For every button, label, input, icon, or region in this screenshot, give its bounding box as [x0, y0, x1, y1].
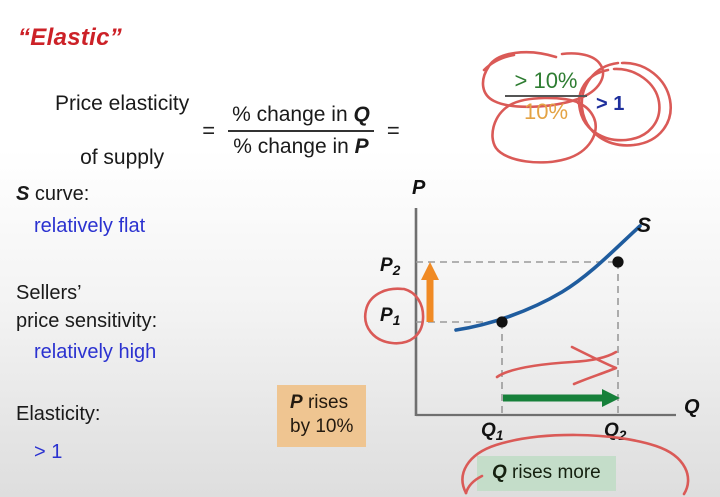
formula-lhs-line1: Price elasticity [55, 91, 189, 118]
callout-quantity-text: rises more [507, 462, 601, 483]
y-tick-label-p2: P2 [380, 255, 400, 278]
note-s-curve-value: relatively flat [34, 214, 145, 238]
callout-quantity-rises: Q rises more [477, 456, 616, 491]
note-elasticity-label: Elasticity: [16, 402, 100, 426]
numerator-variable: Q [353, 103, 369, 126]
formula-left-hand-side: Price elasticity of supply [55, 64, 189, 198]
quantity-rise-arrow [503, 389, 620, 407]
callout-price-text: rises [303, 392, 348, 413]
x-tick-q1-subscript: 1 [496, 428, 504, 443]
note-price-sensitivity-label: price sensitivity: [16, 309, 157, 333]
note-s-curve-label: S curve: [16, 182, 89, 206]
supply-curve-line [456, 226, 640, 330]
x-axis-label: Q [684, 396, 700, 419]
equals-sign-1: = [202, 118, 215, 144]
s-variable: S [16, 183, 29, 205]
slide-canvas: “Elastic” Price elasticity of supply = %… [0, 0, 720, 497]
x-tick-label-q2: Q2 [604, 420, 626, 443]
handwritten-result-value: > 1 [596, 93, 624, 116]
callout-p-variable: P [290, 392, 303, 413]
handwritten-denominator: 10% [520, 97, 572, 125]
price-rise-arrow [421, 262, 439, 322]
ink-hand-arrow-head [572, 347, 616, 384]
point-marker-2 [612, 256, 623, 267]
y-tick-p1-subscript: 1 [393, 313, 401, 328]
ink-hand-arrow [497, 352, 616, 377]
formula-lhs-line2: of supply [55, 145, 189, 172]
x-tick-label-q1: Q1 [481, 420, 503, 443]
y-tick-p2-subscript: 2 [393, 263, 401, 278]
point-marker-1 [496, 316, 507, 327]
note-sellers-label: Sellers’ [16, 281, 82, 305]
callout-price-line2: by 10% [290, 415, 353, 439]
equals-sign-2: = [387, 118, 400, 144]
fraction-bar [228, 130, 374, 132]
formula-fraction: % change in Q % change in P [228, 102, 374, 160]
x-tick-q2-subscript: 2 [619, 428, 627, 443]
callout-price-line1: P rises [290, 391, 353, 415]
y-tick-label-p1: P1 [380, 305, 400, 328]
callout-q-variable: Q [492, 462, 507, 483]
denominator-variable: P [355, 135, 369, 158]
formula-numerator: % change in Q [228, 102, 374, 128]
note-s-curve-text: curve: [29, 183, 89, 205]
note-elasticity-value: > 1 [34, 440, 62, 464]
handwritten-numerator: > 10% [511, 68, 582, 95]
denominator-text: % change in [233, 135, 354, 158]
note-price-sensitivity-value: relatively high [34, 340, 156, 364]
callout-price-rises: P rises by 10% [277, 385, 366, 447]
elasticity-formula: Price elasticity of supply = % change in… [55, 64, 413, 198]
y-axis-label: P [412, 177, 425, 200]
numerator-text: % change in [232, 103, 353, 126]
page-title: “Elastic” [18, 24, 122, 52]
formula-denominator: % change in P [229, 134, 372, 160]
supply-curve-label: S [637, 214, 651, 238]
handwritten-fraction-annotation: > 10% 10% [505, 68, 587, 125]
